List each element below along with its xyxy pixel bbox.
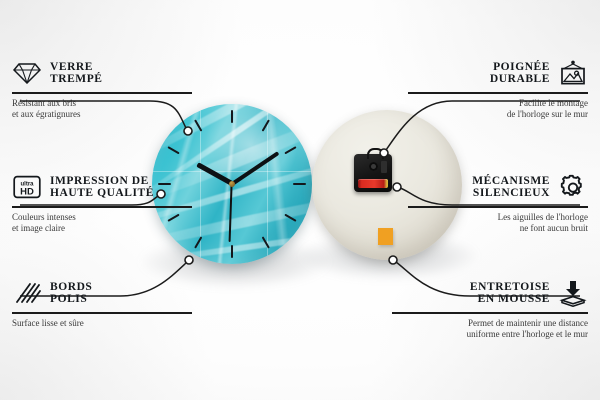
feature-title: VERRE TREMPÉ [50,61,103,86]
clock-center-pin [229,181,235,187]
feature-description: Les aiguilles de l'horloge ne font aucun… [408,212,588,234]
feature-impression-haute-qualite: ultra HD IMPRESSION DE HAUTE QUALITÉ Cou… [12,172,192,234]
feature-header: POIGNÉE DURABLE [408,58,588,88]
feature-description: Permet de maintenir une distance uniform… [392,318,588,340]
feature-description: Surface lisse et sûre [12,318,192,329]
feature-rule [408,206,588,208]
movement-notch [381,161,387,173]
feature-description: Couleurs intenses et image claire [12,212,192,234]
aa-battery [358,179,388,188]
feature-mecanisme-silencieux: MÉCANISME SILENCIEUX Les aiguilles de l'… [408,172,588,234]
hanger-loop [367,148,384,159]
feature-title: MÉCANISME SILENCIEUX [472,175,550,200]
diamond-icon [12,58,42,88]
gear-icon [558,172,588,202]
feature-title: ENTRETOISE EN MOUSSE [470,281,550,306]
polished-edges-icon [12,278,42,308]
feature-header: BORDS POLIS [12,278,192,308]
movement-shaft [369,162,378,171]
ultra-hd-icon: ultra HD [12,172,42,202]
feature-header: ultra HD IMPRESSION DE HAUTE QUALITÉ [12,172,192,202]
feature-poignee-durable: POIGNÉE DURABLE Facilite le montage de l… [408,58,588,120]
foam-spacer-icon [558,278,588,308]
feature-rule [408,92,588,94]
feature-bords-polis: BORDS POLIS Surface lisse et sûre [12,278,192,329]
feature-verre-trempe: VERRE TREMPÉ Résistant aux bris et aux é… [12,58,192,120]
feature-header: ENTRETOISE EN MOUSSE [392,278,588,308]
feature-title: BORDS POLIS [50,281,92,306]
feature-title: POIGNÉE DURABLE [490,61,550,86]
picture-hanger-icon [558,58,588,88]
feature-description: Facilite le montage de l'horloge sur le … [408,98,588,120]
feature-header: VERRE TREMPÉ [12,58,192,88]
feature-rule [392,312,588,314]
feature-rule [12,206,192,208]
feature-rule [12,312,192,314]
feature-entretoise-en-mousse: ENTRETOISE EN MOUSSE Permet de maintenir… [392,278,588,340]
feature-rule [12,92,192,94]
feature-title: IMPRESSION DE HAUTE QUALITÉ [50,175,154,200]
svg-text:HD: HD [20,186,34,197]
foam-spacer [378,228,393,245]
quartz-movement [354,154,392,192]
infographic-canvas: VERRE TREMPÉ Résistant aux bris et aux é… [0,0,600,400]
feature-header: MÉCANISME SILENCIEUX [408,172,588,202]
glass-seam-vertical-2 [267,104,268,264]
feature-description: Résistant aux bris et aux égratignures [12,98,192,120]
